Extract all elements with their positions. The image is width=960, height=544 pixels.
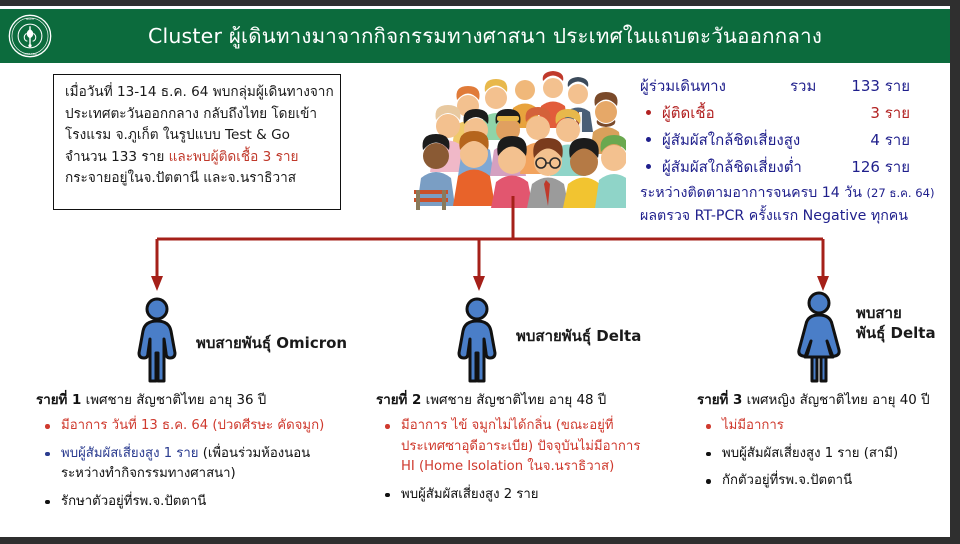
case-1-item-1: มีอาการ วันที่ 13 ธ.ค. 64 (ปวดศีรษะ คัดจ… xyxy=(36,416,366,437)
arrowhead-left-icon xyxy=(151,276,163,291)
ministry-of-public-health-emblem-icon: MOPH THAILAND xyxy=(8,14,52,58)
case-2-heading: รายที่ 2 เพศชาย สัญชาติไทย อายุ 48 ปี xyxy=(376,389,696,410)
case-details-1: รายที่ 1 เพศชาย สัญชาติไทย อายุ 36 ปี มี… xyxy=(36,389,366,519)
bullet-icon xyxy=(646,164,651,169)
case-1-item-1-text: มีอาการ วันที่ 13 ธ.ค. 64 (ปวดศีรษะ คัดจ… xyxy=(61,418,324,433)
case-3-item-2: พบผู้สัมผัสเสี่ยงสูง 1 ราย (สามี) xyxy=(697,444,950,465)
branch-label-delta-female-line1: พบสาย xyxy=(856,303,936,323)
bullet-icon xyxy=(45,500,50,505)
case-3-item-1: ไม่มีอาการ xyxy=(697,416,950,437)
stat-low-risk-value: 126 ราย xyxy=(844,155,910,179)
bullet-icon xyxy=(45,452,50,457)
slide-header-bar: MOPH THAILAND Cluster ผู้เดินทางมาจากกิจ… xyxy=(0,9,950,63)
intro-line-5: กระจายอยู่ในจ.ปัตตานี และจ.นราธิวาส xyxy=(65,168,332,190)
case-1-item-3-text: รักษาตัวอยู่ที่รพ.จ.ปัตตานี xyxy=(61,494,206,509)
case-1-heading-rest: เพศชาย สัญชาติไทย อายุ 36 ปี xyxy=(81,393,266,408)
case-2-item-2-text: พบผู้สัมผัสเสี่ยงสูง 2 ราย xyxy=(401,487,539,502)
stat-row-low-risk: ผู้สัมผัสใกล้ชิดเสี่ยงต่ำ 126 ราย xyxy=(640,155,950,182)
stat-row-total: ผู้ร่วมเดินทาง รวม 133 ราย xyxy=(640,74,950,101)
case-3-heading-rest: เพศหญิง สัญชาติไทย อายุ 40 ปี xyxy=(742,393,929,408)
bullet-icon xyxy=(385,424,390,429)
intro-line-4-prefix: จำนวน 133 ราย xyxy=(65,149,169,165)
case-3-item-3-text: กักตัวอยู่ที่รพ.จ.ปัตตานี xyxy=(722,473,852,488)
bullet-icon xyxy=(45,424,50,429)
intro-line-2: ประเทศตะวันออกกลาง กลับถึงไทย โดยเข้า xyxy=(65,104,332,126)
intro-line-4: จำนวน 133 ราย และพบผู้ติดเชื้อ 3 ราย xyxy=(65,147,332,169)
page-title: Cluster ผู้เดินทางมาจากกิจกรรมทางศาสนา ป… xyxy=(70,9,900,63)
stat-high-risk-value: 4 ราย xyxy=(844,128,910,152)
slide-canvas: MOPH THAILAND Cluster ผู้เดินทางมาจากกิจ… xyxy=(0,6,950,537)
bullet-icon xyxy=(706,452,711,457)
case-2-item-1: มีอาการ ไข้ จมูกไม่ได้กลิ่น (ขณะอยู่ที่ป… xyxy=(376,416,696,478)
female-person-icon xyxy=(793,291,845,383)
stat-high-risk-label: ผู้สัมผัสใกล้ชิดเสี่ยงสูง xyxy=(662,128,800,152)
case-1-item-3: รักษาตัวอยู่ที่รพ.จ.ปัตตานี xyxy=(36,492,366,513)
bullet-icon xyxy=(646,110,651,115)
bullet-icon xyxy=(385,493,390,498)
stat-total-value: 133 ราย xyxy=(844,74,910,98)
slide-right-border xyxy=(950,0,960,544)
arrowhead-right-icon xyxy=(817,276,829,291)
case-3-heading-bold: รายที่ 3 xyxy=(697,393,742,408)
case-3-item-3: กักตัวอยู่ที่รพ.จ.ปัตตานี xyxy=(697,471,950,492)
case-1-item-2-text: พบผู้สัมผัสเสี่ยงสูง 1 ราย xyxy=(61,446,203,461)
case-details-3: รายที่ 3 เพศหญิง สัญชาติไทย อายุ 40 ปี ไ… xyxy=(697,389,950,499)
case-1-item-2: พบผู้สัมผัสเสี่ยงสูง 1 ราย (เพื่อนร่วมห้… xyxy=(36,444,366,485)
stat-infected-label: ผู้ติดเชื้อ xyxy=(662,101,715,125)
arrowhead-middle-icon xyxy=(473,276,485,291)
slide-bottom-border xyxy=(0,537,960,544)
branch-label-omicron: พบสายพันธุ์ Omicron xyxy=(196,333,347,353)
svg-text:MOPH: MOPH xyxy=(26,17,34,21)
bullet-icon xyxy=(646,137,651,142)
bullet-icon xyxy=(706,479,711,484)
intro-line-1: เมื่อวันที่ 13-14 ธ.ค. 64 พบกลุ่มผู้เดิน… xyxy=(65,82,332,104)
stat-low-risk-label: ผู้สัมผัสใกล้ชิดเสี่ยงต่ำ xyxy=(662,155,802,179)
branch-label-delta-female-line2: พันธุ์ Delta xyxy=(856,323,936,343)
stat-total-mid-label: รวม xyxy=(790,74,816,98)
case-details-2: รายที่ 2 เพศชาย สัญชาติไทย อายุ 48 ปี มี… xyxy=(376,389,696,512)
case-3-item-2-text: พบผู้สัมผัสเสี่ยงสูง 1 ราย (สามี) xyxy=(722,446,898,461)
case-3-item-1-text: ไม่มีอาการ xyxy=(722,418,784,433)
case-2-heading-rest: เพศชาย สัญชาติไทย อายุ 48 ปี xyxy=(421,393,606,408)
case-2-item-1-text: มีอาการ ไข้ จมูกไม่ได้กลิ่น (ขณะอยู่ที่ป… xyxy=(401,418,640,474)
male-person-icon xyxy=(131,297,183,383)
stat-row-infected: ผู้ติดเชื้อ 3 ราย xyxy=(640,101,950,128)
svg-text:THAILAND: THAILAND xyxy=(23,52,36,56)
stat-infected-value: 3 ราย xyxy=(844,101,910,125)
male-person-icon xyxy=(451,297,503,383)
branch-label-delta-female: พบสายพันธุ์ Delta xyxy=(856,303,936,343)
case-1-heading: รายที่ 1 เพศชาย สัญชาติไทย อายุ 36 ปี xyxy=(36,389,366,410)
case-2-heading-bold: รายที่ 2 xyxy=(376,393,421,408)
intro-line-3: โรงแรม จ.ภูเก็ต ในรูปแบบ Test & Go xyxy=(65,125,332,147)
bullet-icon xyxy=(706,424,711,429)
branch-label-delta-male: พบสายพันธุ์ Delta xyxy=(516,326,641,346)
case-1-heading-bold: รายที่ 1 xyxy=(36,393,81,408)
stat-row-high-risk: ผู้สัมผัสใกล้ชิดเสี่ยงสูง 4 ราย xyxy=(640,128,950,155)
case-3-heading: รายที่ 3 เพศหญิง สัญชาติไทย อายุ 40 ปี xyxy=(697,389,950,410)
case-2-item-2: พบผู้สัมผัสเสี่ยงสูง 2 ราย xyxy=(376,485,696,506)
stat-total-label: ผู้ร่วมเดินทาง xyxy=(640,74,726,98)
intro-summary-box: เมื่อวันที่ 13-14 ธ.ค. 64 พบกลุ่มผู้เดิน… xyxy=(53,74,341,210)
intro-line-4-highlight: และพบผู้ติดเชื้อ 3 ราย xyxy=(169,149,299,165)
